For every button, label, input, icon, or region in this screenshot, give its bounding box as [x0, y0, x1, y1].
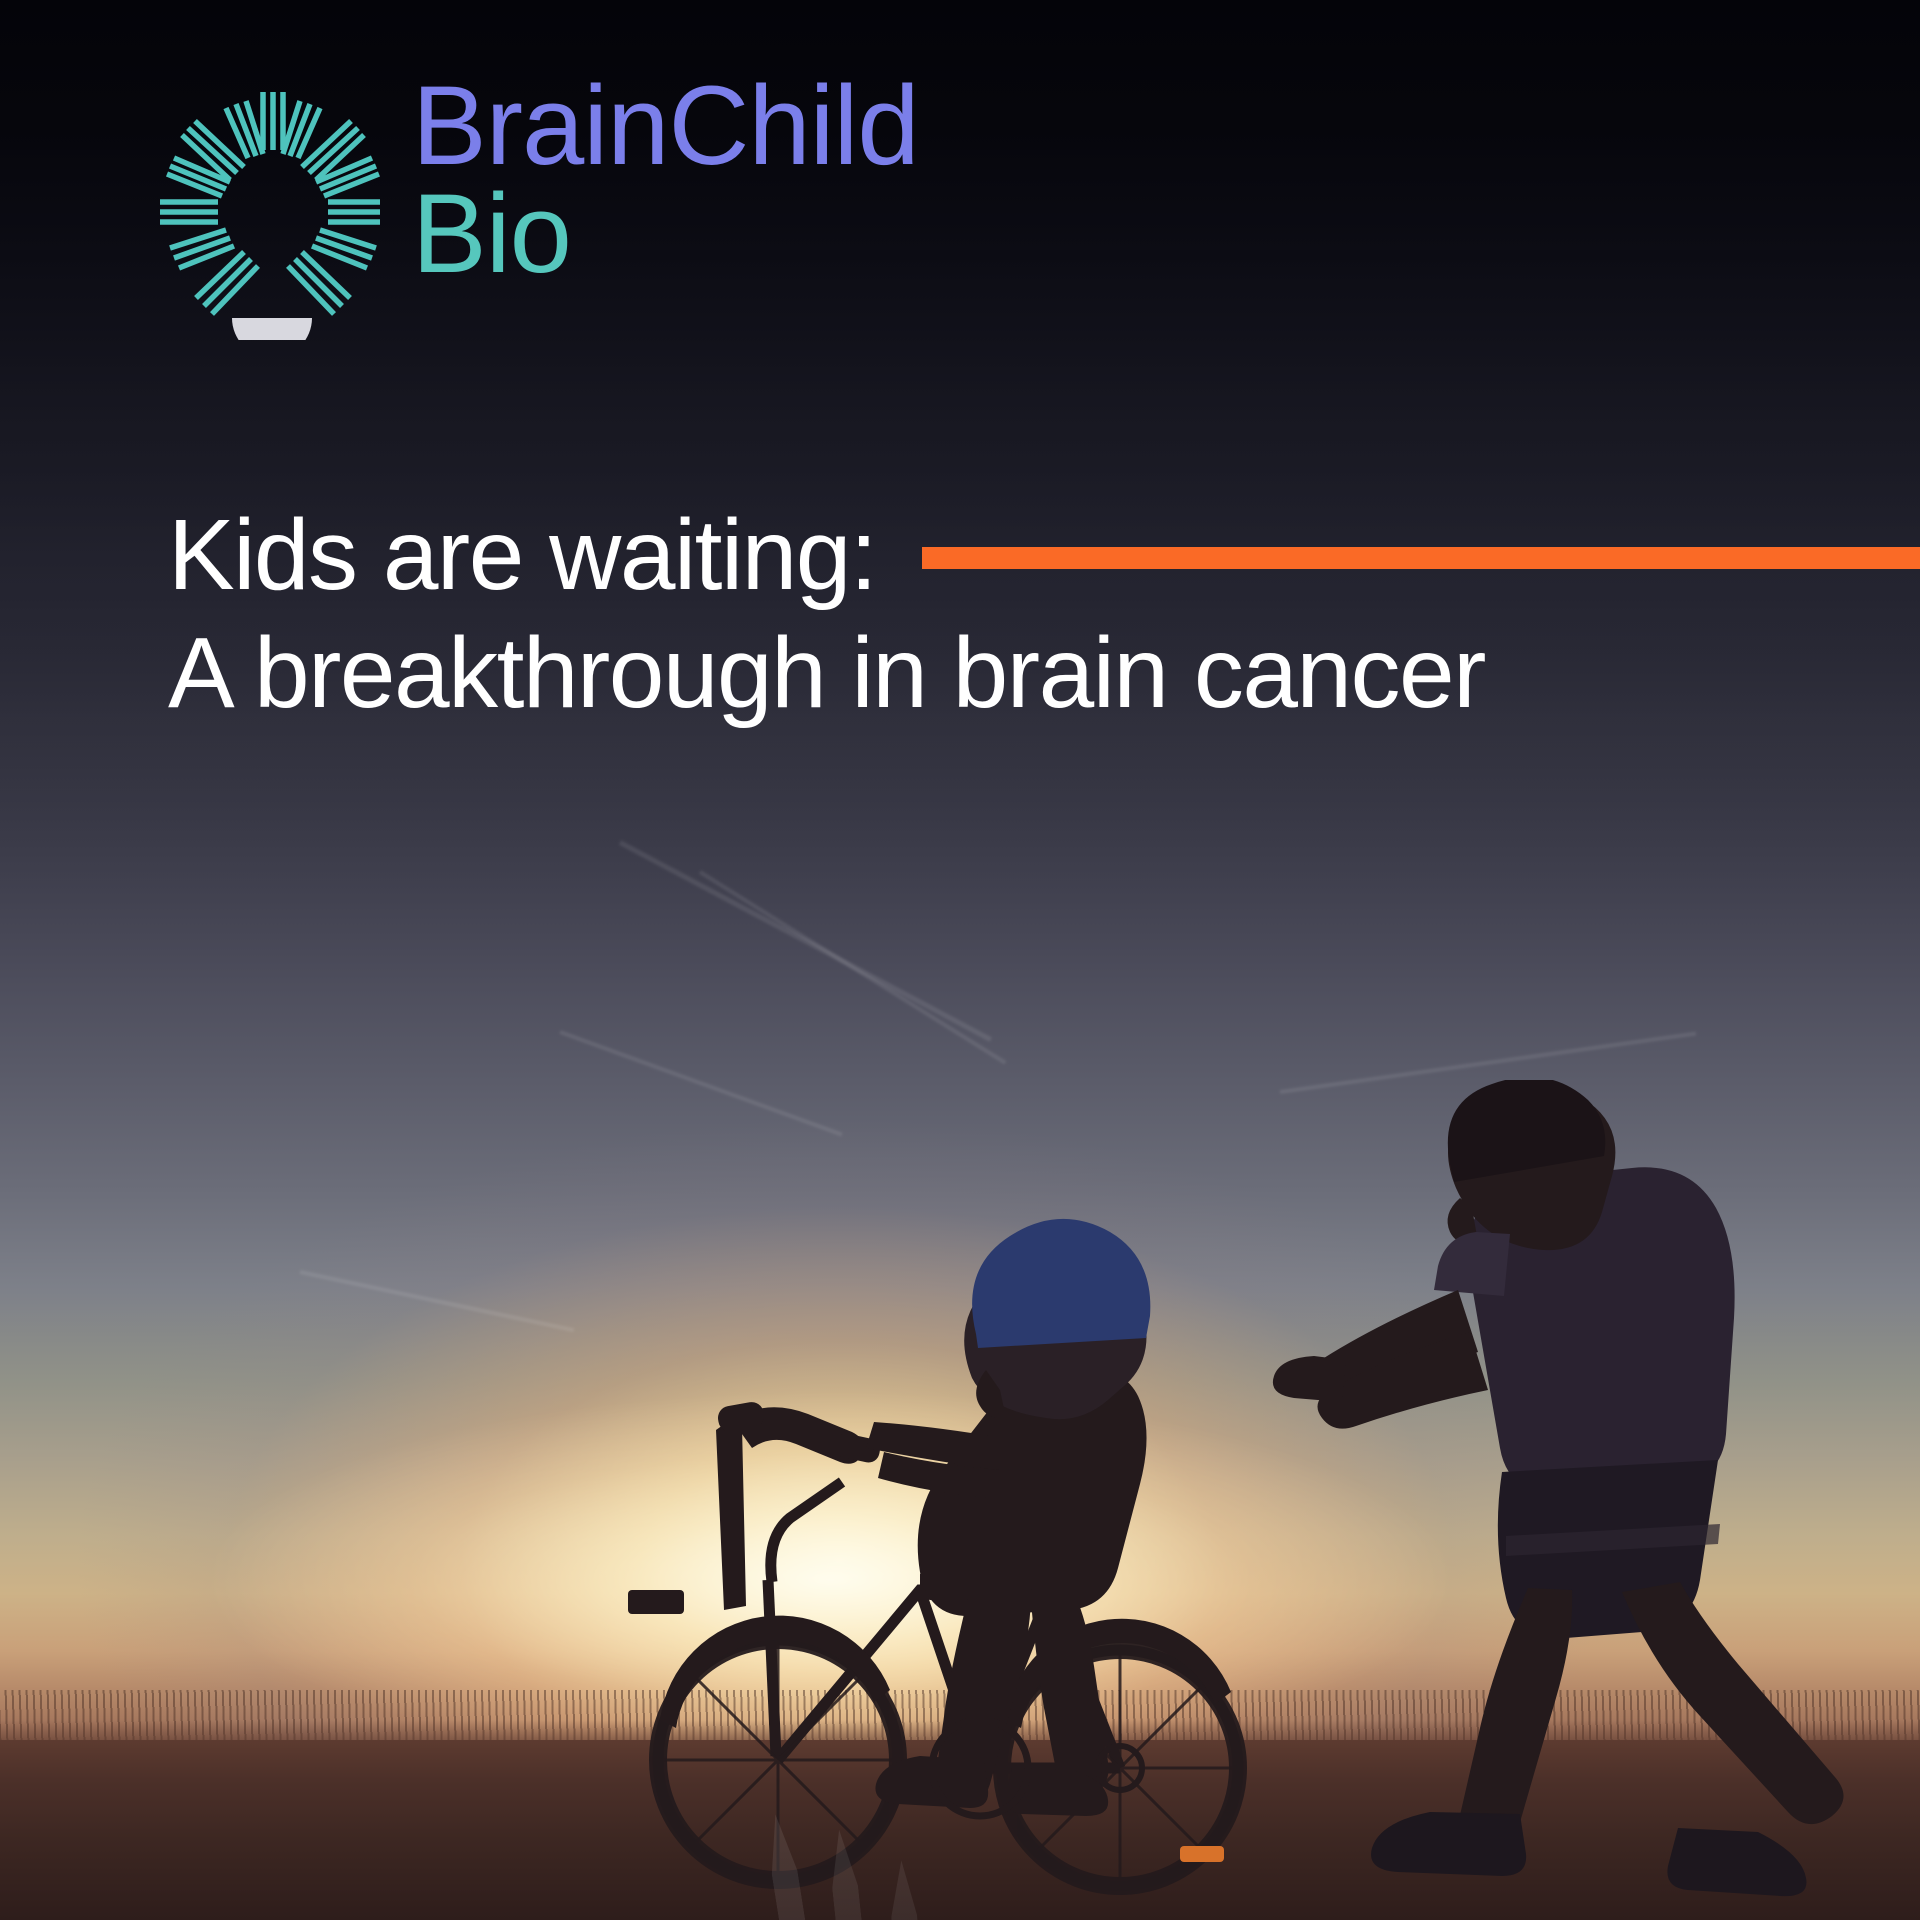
brand-name-line2: Bio	[412, 180, 919, 288]
brand-wordmark: BrainChild Bio	[412, 72, 919, 287]
brand-name-line1: BrainChild	[412, 72, 919, 180]
adult-runner-silhouette	[1270, 1080, 1920, 1920]
headline-block: Kids are waiting: A breakthrough in brai…	[168, 496, 1920, 732]
social-poster: BrainChild Bio Kids are waiting: A break…	[0, 0, 1920, 1920]
headline-row-1: Kids are waiting:	[168, 496, 1920, 614]
orange-accent-rule	[922, 547, 1920, 569]
headline-line-1: Kids are waiting:	[168, 496, 876, 614]
sunburst-lightbulb-icon	[160, 90, 380, 340]
brand-logo[interactable]: BrainChild Bio	[160, 88, 919, 340]
headline-row-2: A breakthrough in brain cancer	[168, 614, 1920, 732]
child-cyclist-silhouette	[620, 1120, 1380, 1910]
headline-line-2: A breakthrough in brain cancer	[168, 614, 1485, 732]
